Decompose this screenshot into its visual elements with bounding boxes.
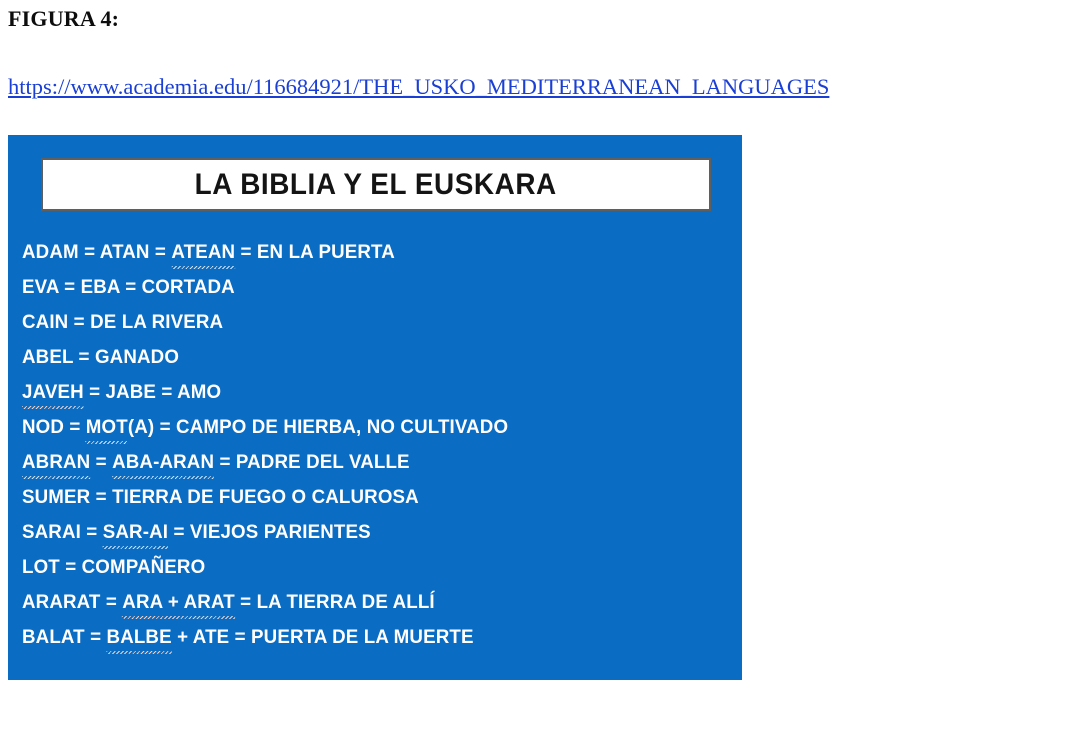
spellcheck-underline: BALBE: [107, 620, 172, 655]
spellcheck-underline: SAR-AI: [103, 515, 168, 550]
list-item: SUMER = TIERRA DE FUEGO O CALUROSA: [22, 480, 706, 515]
spellcheck-underline: JAVEH: [22, 375, 84, 410]
list-item: CAIN = DE LA RIVERA: [22, 305, 706, 340]
list-item: BALAT = BALBE + ATE = PUERTA DE LA MUERT…: [22, 620, 706, 655]
list-item: ARARAT = ARA + ARAT = LA TIERRA DE ALLÍ: [22, 585, 706, 620]
list-item: ABEL = GANADO: [22, 340, 706, 375]
list-item: ABRAN = ABA-ARAN = PADRE DEL VALLE: [22, 445, 706, 480]
spellcheck-underline: ARA + ARAT: [122, 585, 235, 620]
list-item: SARAI = SAR-AI = VIEJOS PARIENTES: [22, 515, 706, 550]
equation-list: ADAM = ATAN = ATEAN = EN LA PUERTA EVA =…: [22, 235, 734, 655]
figure-title-box: LA BIBLIA Y EL EUSKARA: [41, 158, 711, 211]
spellcheck-underline: MOT: [86, 410, 128, 445]
list-item: JAVEH = JABE = AMO: [22, 375, 706, 410]
list-item: EVA = EBA = CORTADA: [22, 270, 706, 305]
spellcheck-underline: ABRAN: [22, 445, 90, 480]
spellcheck-underline: ATEAN: [171, 235, 235, 270]
list-item: ADAM = ATAN = ATEAN = EN LA PUERTA: [22, 235, 706, 270]
spellcheck-underline: ABA-ARAN: [112, 445, 214, 480]
list-item: LOT = COMPAÑERO: [22, 550, 706, 585]
source-url-link[interactable]: https://www.academia.edu/116684921/THE_U…: [8, 74, 829, 100]
figure-heading: FIGURA 4:: [8, 6, 119, 32]
list-item: NOD = MOT(A) = CAMPO DE HIERBA, NO CULTI…: [22, 410, 706, 445]
figure-title-text: LA BIBLIA Y EL EUSKARA: [195, 168, 557, 202]
figure-panel: LA BIBLIA Y EL EUSKARA ADAM = ATAN = ATE…: [8, 135, 742, 680]
